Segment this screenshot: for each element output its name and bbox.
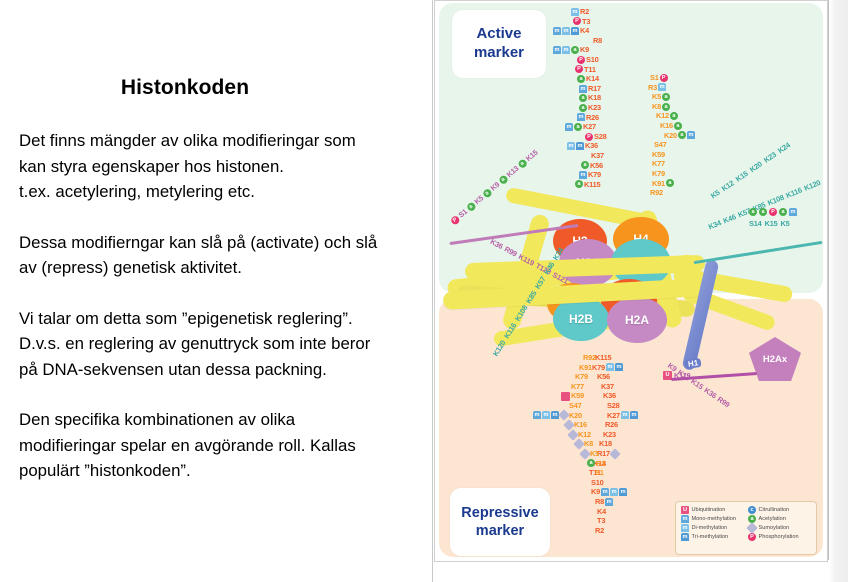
residue: K77 — [571, 382, 605, 392]
residue: K79 — [575, 372, 605, 382]
residue: mmmK4 — [553, 26, 607, 36]
residue: K20am — [664, 131, 695, 141]
phosphorylation-icon: P — [748, 533, 756, 541]
figure-legend: U Ubiquitination c Citrullination m Mono… — [675, 501, 817, 555]
text-line: populärt ”histonkoden”. — [19, 458, 429, 484]
residue: T3 — [597, 516, 638, 526]
tail-h4-repressive: R92 K91 K79 K77 K59 S47 mmmK20 K16 K12 K… — [539, 353, 605, 478]
residue: mK79 — [579, 170, 607, 180]
residue: mmaK9 — [553, 45, 607, 55]
legend-item-tri-methylation: m Tri-methylation — [681, 533, 744, 541]
residue: K59 — [652, 150, 695, 160]
paragraph-3: Vi talar om detta som ”epigenetisk regle… — [19, 306, 429, 383]
residue: K91a — [652, 179, 695, 189]
paragraph-4: Den specifika kombinationen av olika mod… — [19, 407, 429, 484]
residue-row: S14 K15 K5 — [749, 219, 797, 229]
residue: aK115 — [575, 180, 607, 190]
residue: R26 — [605, 420, 638, 430]
residue: K77 — [652, 159, 695, 169]
residue: mR2 — [571, 7, 607, 17]
gutter-divider — [828, 0, 829, 560]
residue: K27mm — [607, 411, 638, 421]
residue: mR17 — [579, 84, 607, 94]
legend-item-phosphorylation: P Phosphorylation — [748, 533, 811, 541]
presentation-slide: Histonkoden Det finns mängder av olika m… — [0, 0, 848, 582]
text-line: modifieringar spelar en avgörande roll. … — [19, 433, 429, 459]
legend-item-ubiquitination: U Ubiquitination — [681, 506, 744, 514]
residue: mR26 — [577, 113, 607, 123]
residue: aK18 — [579, 93, 607, 103]
residue: K37 — [601, 382, 638, 392]
residue: aK23 — [579, 103, 607, 113]
text-line: Vi talar om detta som ”epigenetisk regle… — [19, 306, 429, 332]
residue: K8a — [652, 102, 695, 112]
residue: aR3 — [587, 459, 605, 469]
page-title: Histonkoden — [0, 76, 370, 100]
histone-modification-figure: H3 H4 H2A H2B H4 H3 H2B H2A H1 H2Ax mR2 … — [434, 0, 828, 562]
ubiquitination-icon: U — [681, 506, 689, 514]
residue: S47 — [654, 140, 695, 150]
legend-item-citrullination: c Citrullination — [748, 506, 811, 514]
residue: mmK36 — [567, 141, 607, 151]
slide-text-column: Histonkoden Det finns mängder av olika m… — [0, 0, 432, 582]
tail-h4-active: S1P R3m K5a K8a K12a K16a K20am S47 K59 … — [650, 73, 695, 198]
active-marker-line-2: marker — [474, 44, 524, 63]
text-line: Den specifika kombinationen av olika — [19, 407, 429, 433]
residue: R8m — [595, 497, 638, 507]
text-line: kan styra egenskaper hos histonen. — [19, 154, 429, 180]
residue: PT3 — [573, 17, 607, 27]
h2ax-variant: H2Ax — [749, 337, 801, 381]
residue: S47 — [569, 401, 605, 411]
residue: S1 — [595, 468, 605, 478]
tri-methylation-icon: m — [681, 533, 689, 541]
active-marker-line-1: Active — [474, 25, 524, 44]
residue: maK27 — [565, 122, 607, 132]
sumoylation-icon — [746, 522, 757, 533]
residue: K8 — [575, 439, 605, 449]
histone-h2a-b: H2A — [607, 297, 667, 343]
repressive-marker-label: Repressive marker — [450, 488, 550, 556]
residue: K79 — [652, 169, 695, 179]
residue: aK56 — [581, 161, 607, 171]
legend-item-acetylation: a Acetylation — [748, 515, 811, 523]
residue: R92 — [650, 188, 695, 198]
residue: PT11 — [575, 65, 607, 75]
residue: K37 — [591, 151, 607, 161]
active-marker-label: Active marker — [452, 10, 546, 78]
residue: K23 — [603, 430, 638, 440]
residue: R92 — [583, 353, 605, 363]
residue: K16a — [660, 121, 695, 131]
repressive-marker-line-1: Repressive — [461, 504, 538, 522]
residue: aK14 — [577, 74, 607, 84]
residue-row: a a P a m — [749, 207, 797, 217]
legend-item-mono-methylation: m Mono-methylation — [681, 515, 744, 523]
di-methylation-icon: m — [681, 524, 689, 532]
paragraph-2: Dessa modifierngar kan slå på (activate)… — [19, 230, 429, 281]
residue: R3m — [648, 83, 695, 93]
residue: K5 — [581, 449, 605, 459]
paragraph-1: Det finns mängder av olika modifieringar… — [19, 128, 429, 205]
repressive-marker-line-2: marker — [461, 522, 538, 540]
text-line: av (repress) genetisk aktivitet. — [19, 255, 429, 281]
residue: R8 — [593, 36, 607, 46]
legend-item-sumoylation: Sumoylation — [748, 524, 811, 532]
text-line: D.v.s. en reglering av genuttryck som in… — [19, 331, 429, 357]
residue: PS28 — [585, 132, 607, 142]
tail-h3-active: mR2 PT3 mmmK4 R8 mmaK9 PS10 PT11 aK14 mR… — [571, 7, 607, 189]
slide-body-text: Det finns mängder av olika modifieringar… — [19, 128, 429, 484]
text-line: på DNA-sekvensen utan dessa packning. — [19, 357, 429, 383]
mono-methylation-icon: m — [681, 515, 689, 523]
residue: K12 — [569, 430, 605, 440]
text-line: Det finns mängder av olika modifieringar… — [19, 128, 429, 154]
residue: K36 — [603, 391, 638, 401]
residue: K59 — [561, 391, 605, 401]
residue: R2 — [595, 526, 638, 536]
residue: K9mmm — [591, 487, 638, 497]
residue: K5a — [652, 92, 695, 102]
right-gutter — [829, 0, 848, 582]
residue: K16 — [565, 420, 605, 430]
residue: K91 — [579, 363, 605, 373]
residue: S1P — [650, 73, 695, 83]
legend-item-di-methylation: m Di-methylation — [681, 524, 744, 532]
residue: K4 — [597, 507, 638, 517]
tail-h2b-active-marks: a a P a m S14 K15 K5 — [749, 207, 797, 228]
h1-label: H1 — [684, 358, 701, 369]
residue: K12a — [656, 111, 695, 121]
residue: S28 — [607, 401, 638, 411]
citrullination-icon: c — [748, 506, 756, 514]
page-divider — [432, 0, 433, 582]
residue: S10 — [591, 478, 638, 488]
text-line: Dessa modifierngar kan slå på (activate)… — [19, 230, 429, 256]
residue: PS10 — [577, 55, 607, 65]
text-line: t.ex. acetylering, metylering etc. — [19, 179, 429, 205]
